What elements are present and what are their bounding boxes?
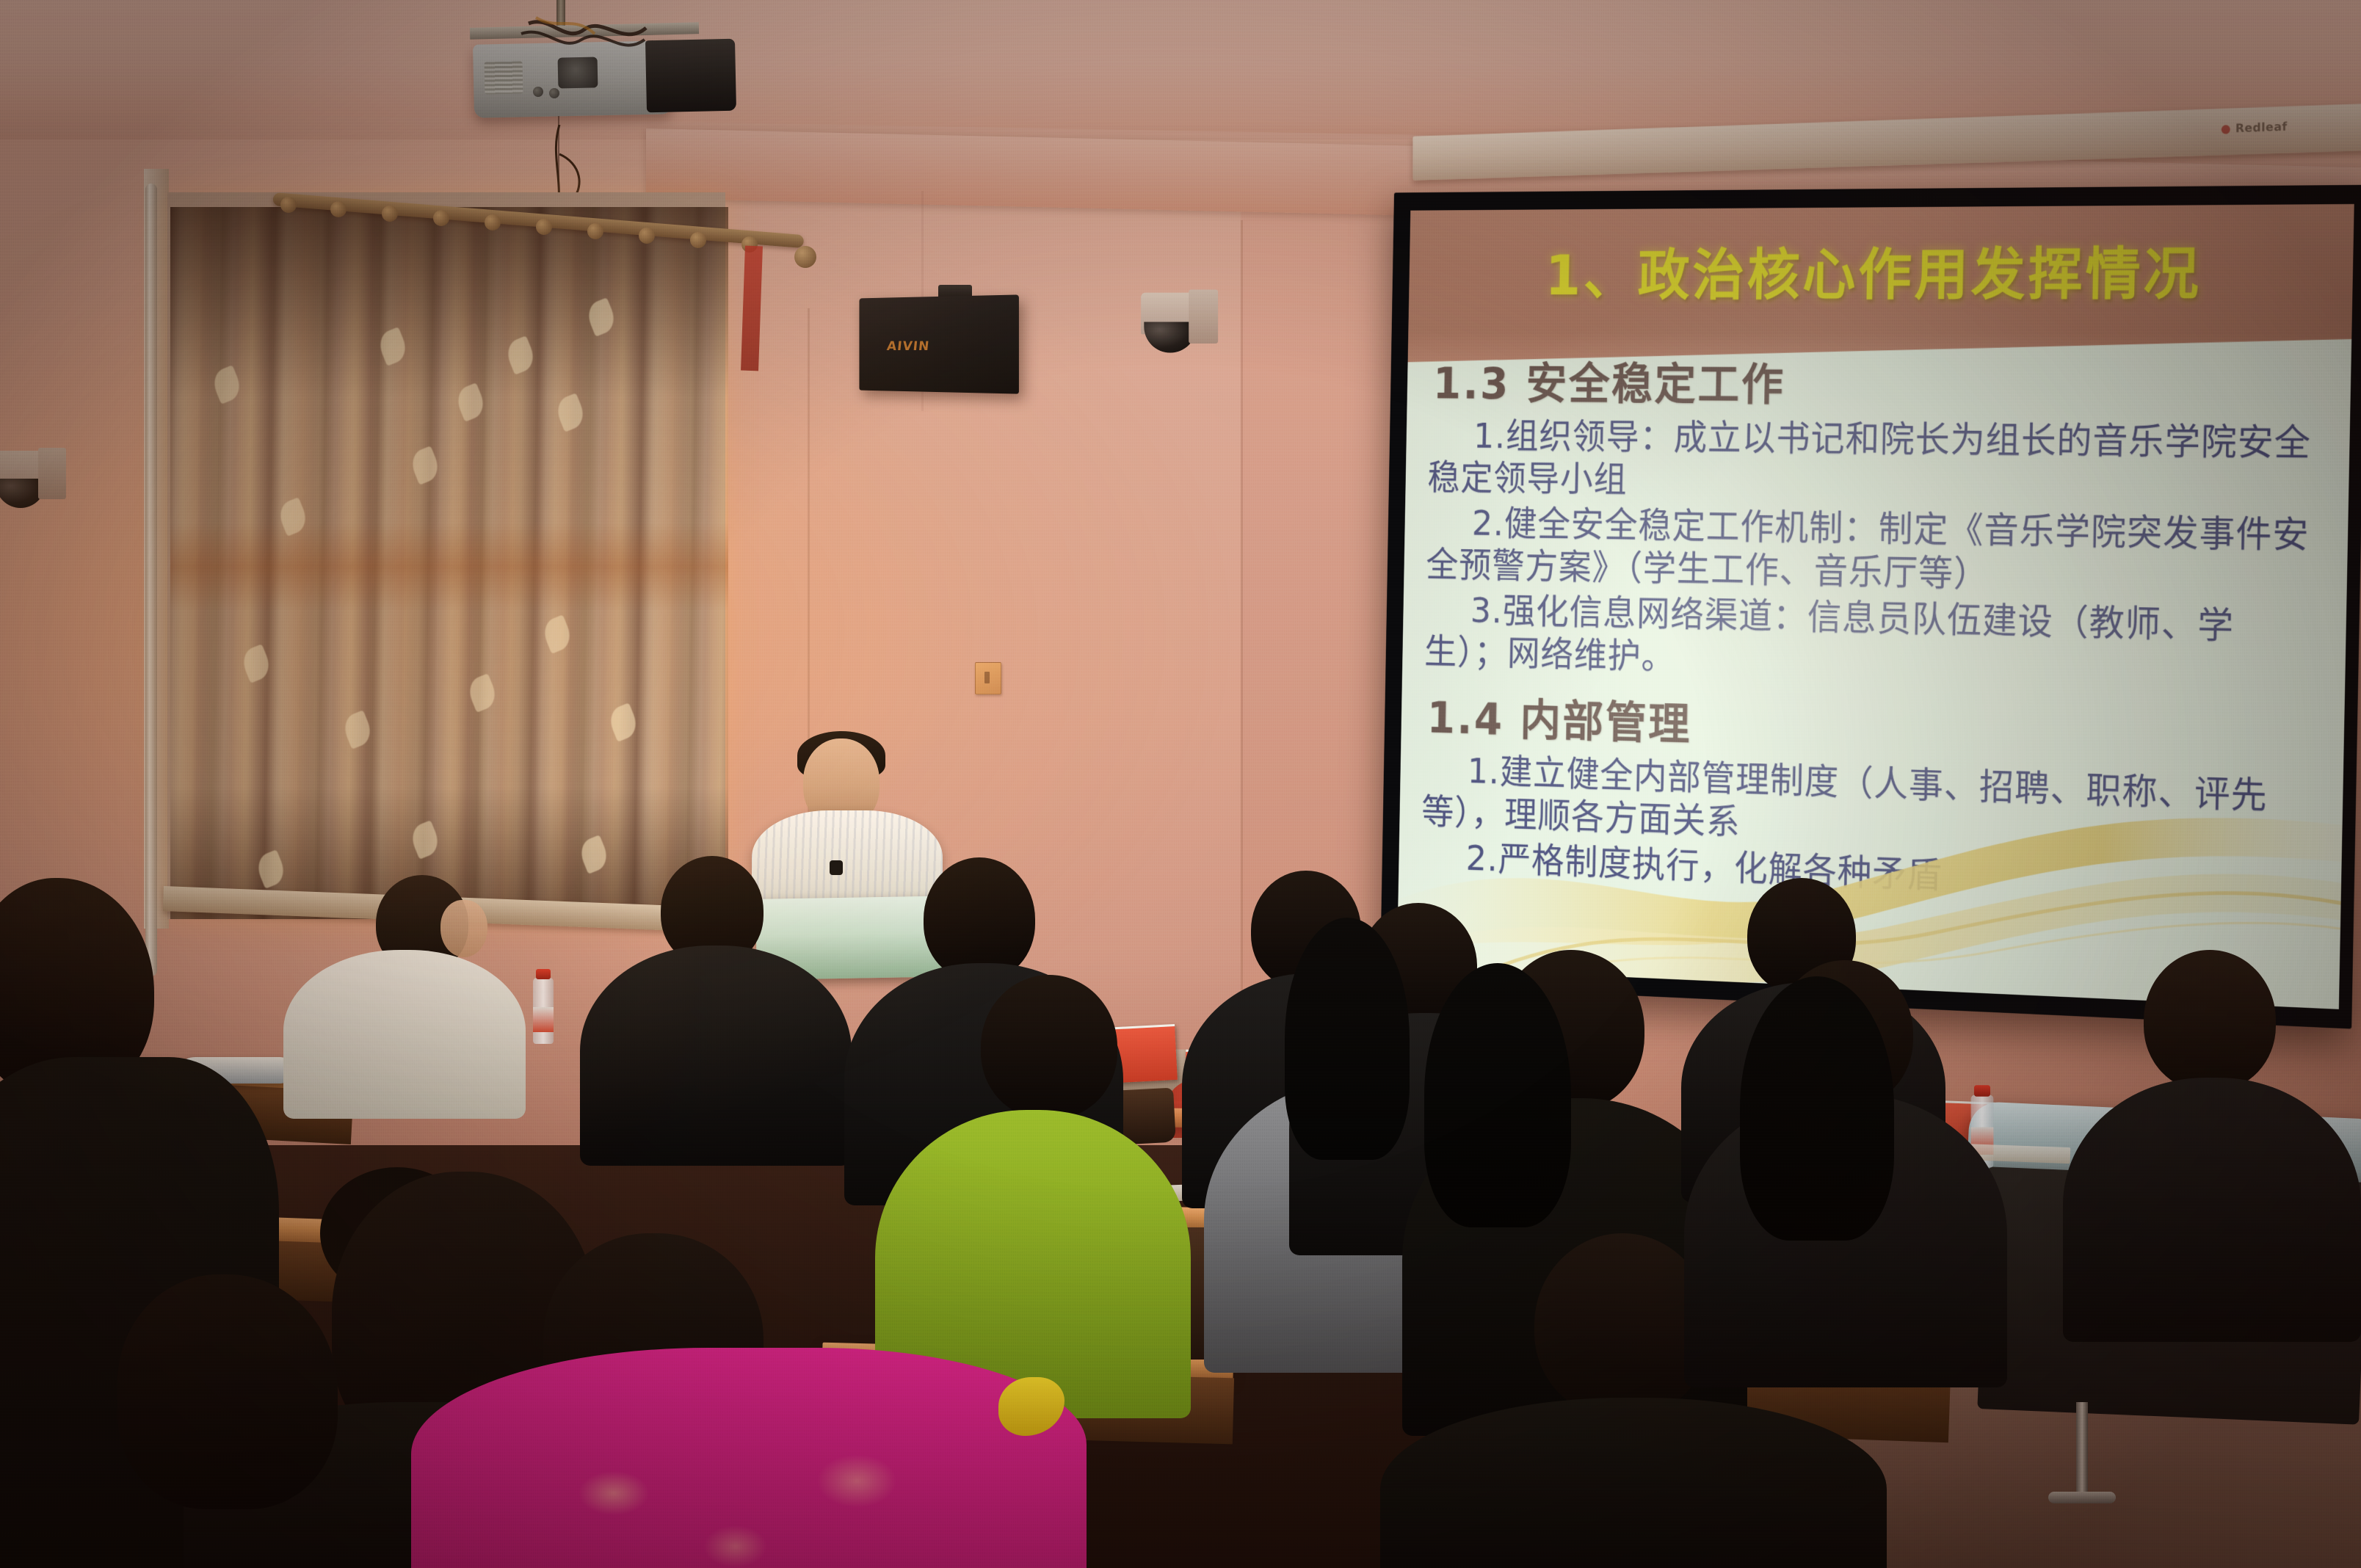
head <box>117 1274 338 1509</box>
camera-mount-arm <box>38 448 66 499</box>
face <box>440 900 487 957</box>
curtain-ring <box>280 197 297 213</box>
torso <box>580 945 852 1166</box>
curtain-ring <box>587 223 603 239</box>
wall-seam <box>1241 220 1243 1101</box>
silhouette-head <box>1285 918 1410 1160</box>
slide-body: 1.3 安全稳定工作 1.组织领导：成立以书记和院长为组长的音乐学院安全稳定领导… <box>1399 333 2351 913</box>
window-curtain <box>170 207 728 919</box>
projector-knob <box>549 88 559 98</box>
curtain-ring <box>485 214 501 231</box>
camera-mount-arm <box>1189 289 1218 344</box>
classroom-presentation-photo: AIVIN ● Redleaf 1、政治核心作用发挥情况 1.3 安全稳定工作 … <box>0 0 2361 1568</box>
torso <box>283 950 526 1119</box>
wall-speaker <box>859 294 1018 393</box>
counter-leg <box>2076 1402 2088 1498</box>
curtain-ring <box>382 206 398 222</box>
torso <box>1380 1398 1887 1568</box>
silhouette-head <box>1740 976 1894 1241</box>
torso <box>2063 1078 2361 1342</box>
projector-cables-icon <box>514 15 661 66</box>
projection-screen-assembly: ● Redleaf 1、政治核心作用发挥情况 1.3 安全稳定工作 1.组织领导… <box>1380 185 2361 1037</box>
head <box>2144 950 2276 1091</box>
curtain-rod-finial <box>794 246 816 268</box>
dome-security-camera <box>0 451 48 490</box>
counter-foot <box>2048 1492 2116 1503</box>
dome-security-camera <box>1141 293 1200 335</box>
bottle-cap <box>536 969 551 979</box>
slide-heading-1-3: 1.3 安全稳定工作 <box>1432 349 2326 417</box>
head <box>924 857 1035 981</box>
bottle-label <box>533 1007 554 1032</box>
curtain-ring <box>536 219 552 235</box>
screen-brand-text: Redleaf <box>2235 120 2288 135</box>
slide-title-bar: 1、政治核心作用发挥情况 <box>1408 204 2354 335</box>
wall-pipe <box>145 184 157 976</box>
projection-screen-frame: 1、政治核心作用发挥情况 1.3 安全稳定工作 1.组织领导：成立以书记和院长为… <box>1380 185 2361 1029</box>
projector-vent <box>485 61 523 94</box>
head <box>981 975 1117 1119</box>
wall-switch-plate[interactable] <box>975 662 1001 694</box>
projected-slide: 1、政治核心作用发挥情况 1.3 安全稳定工作 1.组织领导：成立以书记和院长为… <box>1397 204 2354 1009</box>
slide-title: 1、政治核心作用发挥情况 <box>1545 229 2202 311</box>
slide-item: 1.组织领导：成立以书记和院长为组长的音乐学院安全稳定领导小组 <box>1427 415 2325 510</box>
silhouette-head <box>1424 963 1571 1227</box>
lapel-microphone <box>830 860 843 875</box>
screen-brand-label: ● Redleaf <box>2221 120 2288 136</box>
slide-item: 2.健全安全稳定工作机制：制定《音乐学院突发事件安全预警方案》（学生工作、音乐厅… <box>1426 501 2324 603</box>
bottle-cap <box>1974 1085 1990 1096</box>
projector-knob <box>533 87 543 97</box>
curtain-shadow-band <box>170 523 728 611</box>
curtain-ring <box>639 228 655 244</box>
curtain-ring <box>433 210 449 226</box>
slide-item: 3.强化信息网络渠道：信息员队伍建设（教师、学生）；网络维护。 <box>1424 589 2322 695</box>
curtain-ring <box>690 232 706 248</box>
water-bottle <box>533 978 554 1044</box>
curtain-ring <box>330 201 347 217</box>
torso <box>411 1348 1087 1568</box>
speaker-brand-label: AIVIN <box>886 339 930 354</box>
